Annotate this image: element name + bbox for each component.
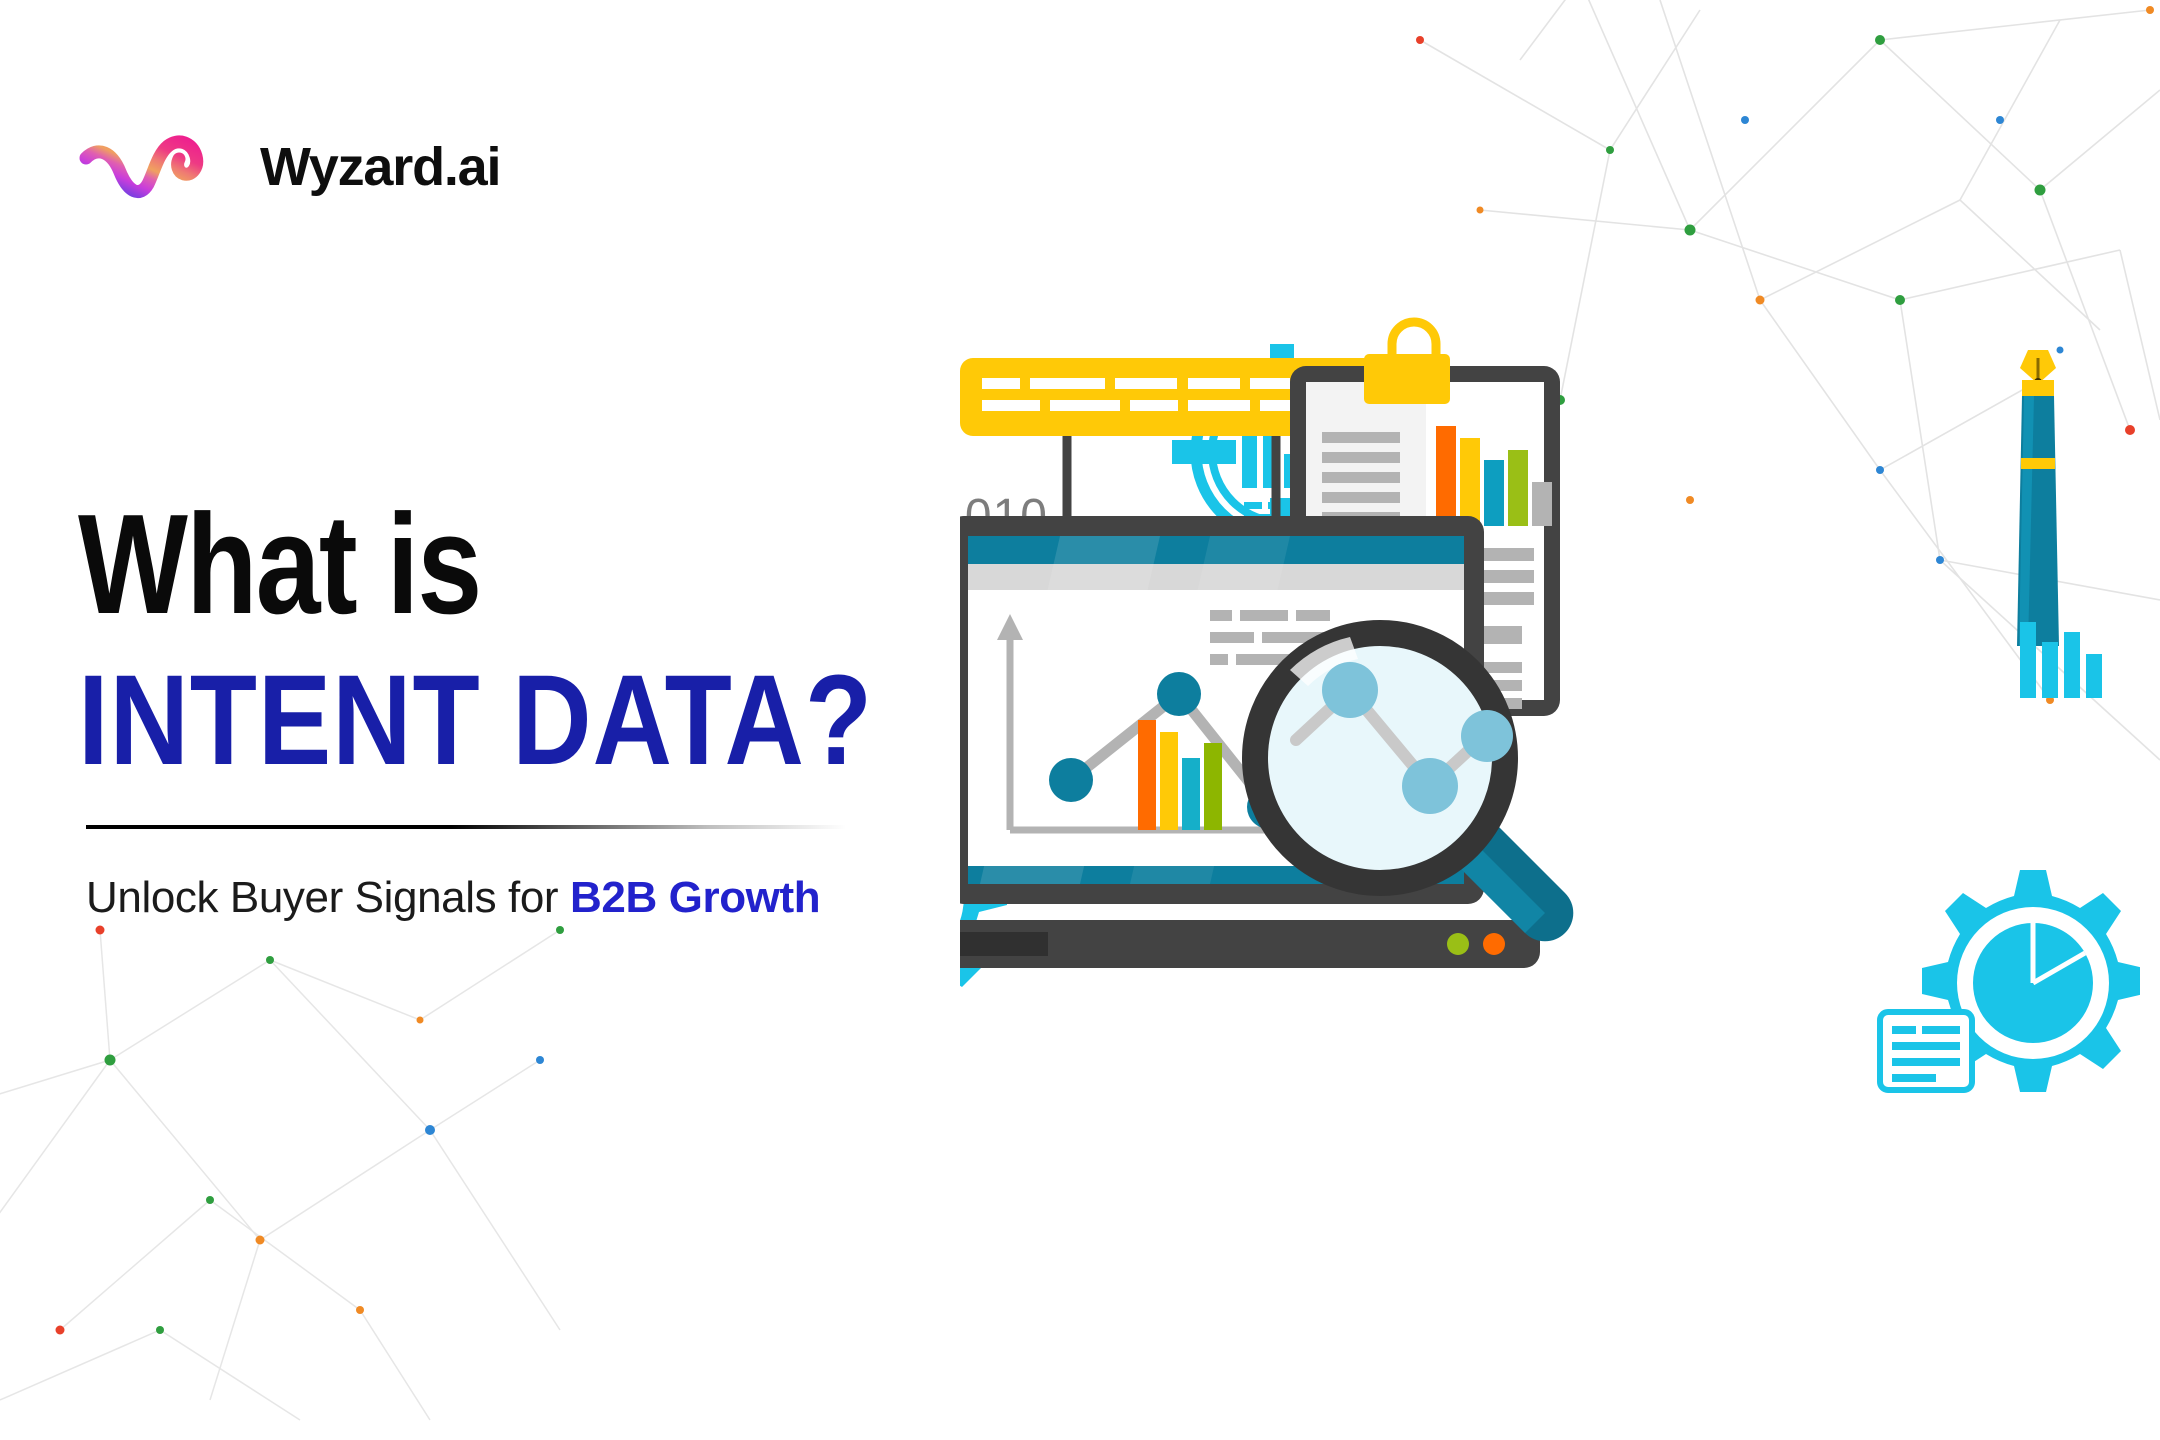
illustration-svg: 01101010 100101010 011010100 [960, 270, 2140, 1180]
headline-divider [86, 825, 846, 829]
subtitle-prefix: Unlock Buyer Signals for [86, 873, 570, 922]
subtitle: Unlock Buyer Signals for B2B Growth [86, 873, 1028, 923]
headline-line-1: What is [78, 500, 857, 631]
brand-logo[interactable]: Wyzard.ai [78, 128, 500, 206]
laptop-trackpad [960, 932, 1048, 956]
headline-line-2: INTENT DATA? [78, 657, 895, 785]
laptop-indicator-orange [1483, 933, 1505, 955]
wyzard-wave-logo-icon [78, 128, 238, 206]
laptop-indicator-green [1447, 933, 1469, 955]
headline-block: What is INTENT DATA? Unlock Buyer Signal… [78, 500, 1028, 923]
mini-document-icon [1880, 1012, 1972, 1090]
brand-logo-text: Wyzard.ai [260, 140, 500, 194]
fountain-pen-icon [2017, 350, 2059, 646]
subtitle-highlight: B2B Growth [570, 873, 820, 922]
right-cyan-bar-chart [2020, 622, 2102, 698]
intent-data-illustration: 01101010 100101010 011010100 [960, 270, 2140, 1180]
clipboard-clip [1364, 354, 1450, 404]
poster-canvas: Wyzard.ai What is INTENT DATA? Unlock Bu… [0, 0, 2160, 1440]
